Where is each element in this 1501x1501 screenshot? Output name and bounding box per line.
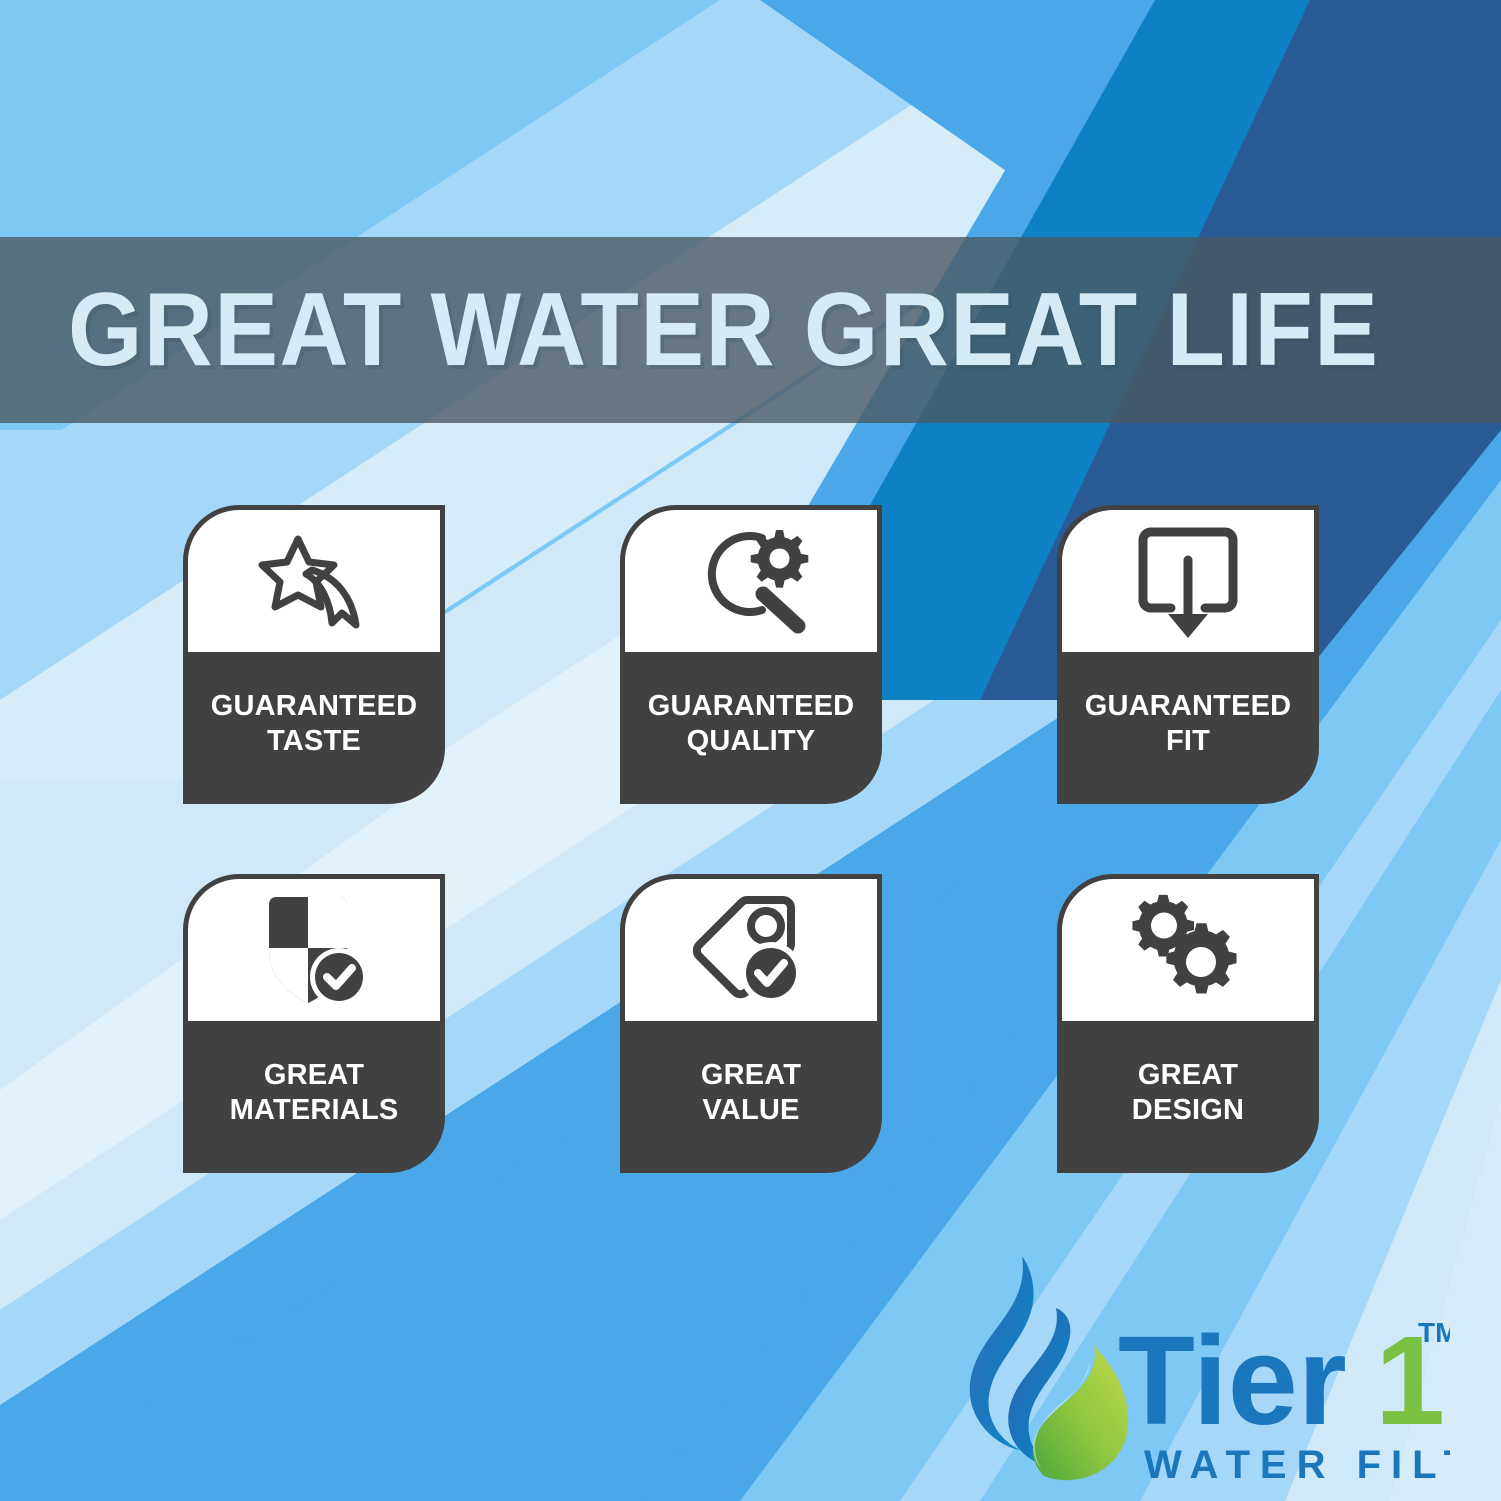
feature-card-guaranteed-quality[interactable]: GUARANTEED QUALITY — [620, 505, 882, 804]
shield-check-icon — [188, 879, 440, 1021]
feature-card-guaranteed-taste[interactable]: GUARANTEED TASTE — [183, 505, 445, 804]
gears-icon — [1062, 879, 1314, 1021]
feature-card-great-materials[interactable]: GREAT MATERIALS — [183, 874, 445, 1173]
title-banner: GREAT WATER GREAT LIFE — [0, 237, 1501, 423]
page-title: GREAT WATER GREAT LIFE — [68, 278, 1379, 382]
magnifier-gear-icon — [625, 510, 877, 652]
logo-wordmark-tier: Tier — [1118, 1310, 1347, 1451]
price-tag-check-icon — [625, 879, 877, 1021]
water-leaf-droplet-icon — [970, 1256, 1128, 1480]
brand-logo[interactable]: Tier 1 TM WATER FILTERS — [950, 1252, 1450, 1497]
feature-card-grid: GUARANTEED TASTE — [183, 505, 1333, 1243]
feature-card-label: GREAT VALUE — [620, 1021, 882, 1173]
feature-card-label: GUARANTEED FIT — [1057, 652, 1319, 804]
feature-card-label: GUARANTEED QUALITY — [620, 652, 882, 804]
infographic-canvas: GREAT WATER GREAT LIFE GUARANTEED TASTE — [0, 0, 1501, 1501]
feature-card-label: GUARANTEED TASTE — [183, 652, 445, 804]
feature-card-row-2: GREAT MATERIALS GREAT VAL — [183, 874, 1333, 1173]
logo-tagline: WATER FILTERS — [1144, 1443, 1450, 1487]
logo-trademark: TM — [1418, 1317, 1450, 1348]
feature-card-label: GREAT DESIGN — [1057, 1021, 1319, 1173]
feature-card-great-design[interactable]: GREAT DESIGN — [1057, 874, 1319, 1173]
feature-card-great-value[interactable]: GREAT VALUE — [620, 874, 882, 1173]
shooting-star-icon — [188, 510, 440, 652]
feature-card-label: GREAT MATERIALS — [183, 1021, 445, 1173]
insert-arrow-down-icon — [1062, 510, 1314, 652]
feature-card-row-1: GUARANTEED TASTE — [183, 505, 1333, 804]
feature-card-guaranteed-fit[interactable]: GUARANTEED FIT — [1057, 505, 1319, 804]
